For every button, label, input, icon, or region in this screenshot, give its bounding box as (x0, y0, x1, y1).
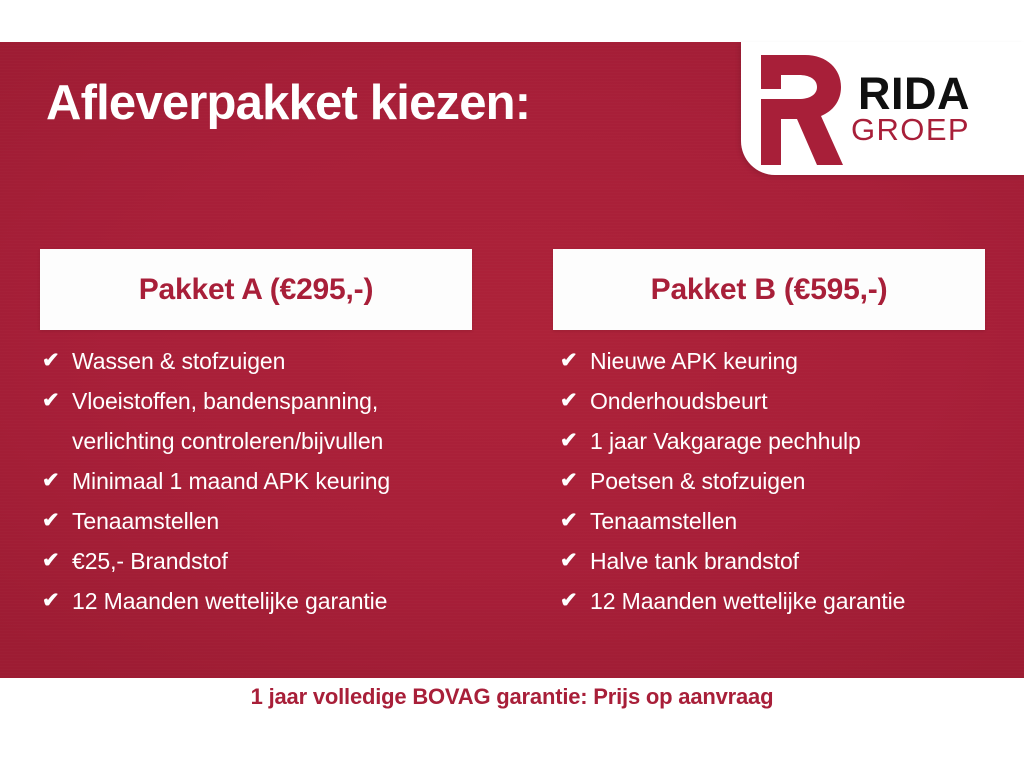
list-item-label: Wassen & stofzuigen (72, 341, 512, 381)
package-a-title: Pakket A (€295,-) (139, 273, 374, 307)
package-b-title: Pakket B (€595,-) (651, 273, 888, 307)
list-item: ✔€25,- Brandstof (42, 541, 512, 581)
check-icon: ✔ (42, 581, 72, 621)
list-item: ✔Tenaamstellen (42, 501, 512, 541)
check-icon: ✔ (42, 541, 72, 581)
list-item-label: Tenaamstellen (590, 501, 1024, 541)
list-item-label: Nieuwe APK keuring (590, 341, 1024, 381)
list-item: ✔Halve tank brandstof (560, 541, 1024, 581)
list-item: ✔Nieuwe APK keuring (560, 341, 1024, 381)
check-icon: ✔ (42, 501, 72, 541)
list-item-label: 1 jaar Vakgarage pechhulp (590, 421, 1024, 461)
brand-name-primary: RIDA (858, 73, 970, 114)
footer-note: 1 jaar volledige BOVAG garantie: Prijs o… (0, 684, 1024, 710)
list-item: ✔12 Maanden wettelijke garantie (42, 581, 512, 621)
list-item-label: 12 Maanden wettelijke garantie (590, 581, 1024, 621)
list-item-label: Halve tank brandstof (590, 541, 1024, 581)
check-icon: ✔ (42, 461, 72, 501)
package-a-header-card[interactable]: Pakket A (€295,-) (40, 249, 472, 330)
brand-wordmark: RIDA GROEP (851, 73, 970, 145)
package-a-feature-list: ✔Wassen & stofzuigen✔Vloeistoffen, bande… (42, 341, 512, 621)
check-icon: ✔ (560, 381, 590, 421)
list-item-label: Vloeistoffen, bandenspanning, verlichtin… (72, 381, 512, 461)
page-title: Afleverpakket kiezen: (46, 78, 530, 129)
list-item-label: 12 Maanden wettelijke garantie (72, 581, 512, 621)
list-item-label: Onderhoudsbeurt (590, 381, 1024, 421)
slide-canvas: Afleverpakket kiezen: RIDA GROEP Pakket … (0, 0, 1024, 768)
brand-name-secondary: GROEP (851, 116, 970, 145)
check-icon: ✔ (560, 501, 590, 541)
list-item-label: Poetsen & stofzuigen (590, 461, 1024, 501)
list-item-label: Tenaamstellen (72, 501, 512, 541)
list-item: ✔12 Maanden wettelijke garantie (560, 581, 1024, 621)
list-item-label: Minimaal 1 maand APK keuring (72, 461, 512, 501)
brand-logo: RIDA GROEP (741, 42, 1024, 175)
list-item: ✔Tenaamstellen (560, 501, 1024, 541)
list-item-label: €25,- Brandstof (72, 541, 512, 581)
check-icon: ✔ (560, 581, 590, 621)
package-b-header-card[interactable]: Pakket B (€595,-) (553, 249, 985, 330)
check-icon: ✔ (42, 381, 72, 421)
list-item: ✔Wassen & stofzuigen (42, 341, 512, 381)
rida-r-monogram-icon (755, 53, 843, 165)
list-item: ✔Onderhoudsbeurt (560, 381, 1024, 421)
check-icon: ✔ (560, 541, 590, 581)
list-item: ✔1 jaar Vakgarage pechhulp (560, 421, 1024, 461)
list-item: ✔Vloeistoffen, bandenspanning, verlichti… (42, 381, 512, 461)
check-icon: ✔ (42, 341, 72, 381)
package-b-feature-list: ✔Nieuwe APK keuring✔Onderhoudsbeurt✔1 ja… (560, 341, 1024, 621)
list-item: ✔Minimaal 1 maand APK keuring (42, 461, 512, 501)
check-icon: ✔ (560, 421, 590, 461)
check-icon: ✔ (560, 461, 590, 501)
list-item: ✔Poetsen & stofzuigen (560, 461, 1024, 501)
check-icon: ✔ (560, 341, 590, 381)
